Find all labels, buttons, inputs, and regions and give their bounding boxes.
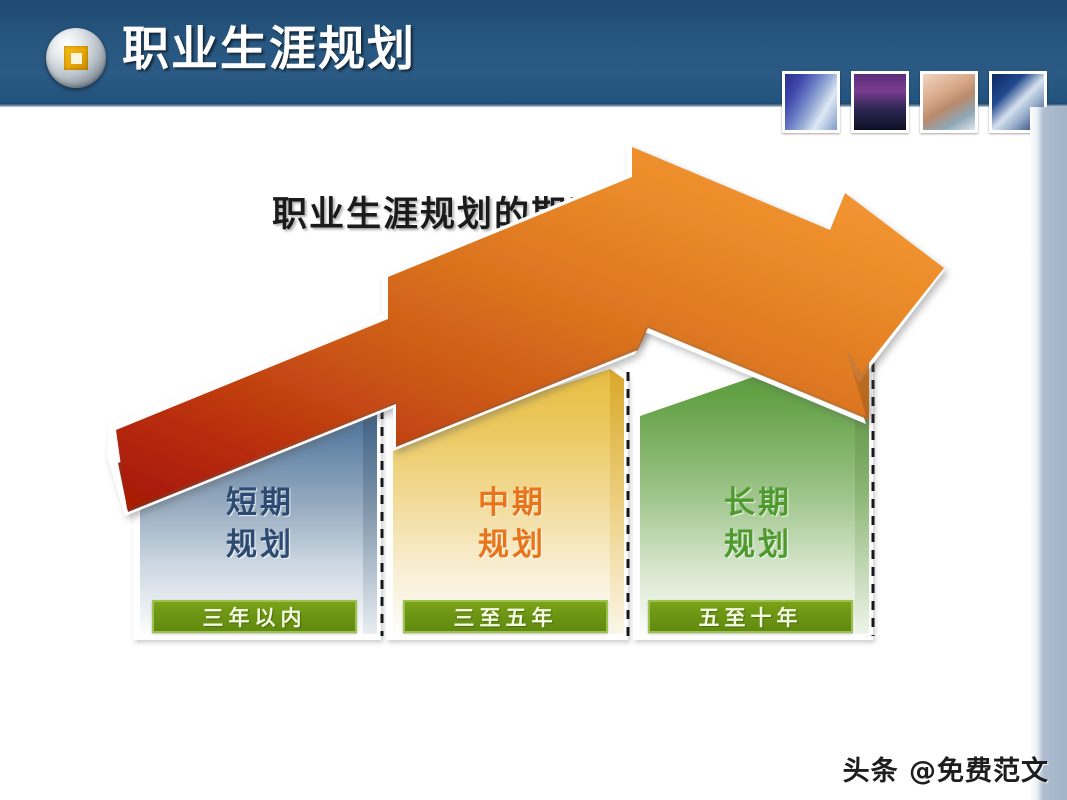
stage-badge-long-term: 五至十年 <box>648 600 853 633</box>
stage-label-long-term: 长期 规划 <box>658 482 858 566</box>
slide-canvas: 职业生涯规划 职业生涯规划的期限 <box>0 0 1067 800</box>
arrow-body <box>107 145 945 516</box>
stage-label-short-term: 短期 规划 <box>160 482 360 566</box>
stage-badge-short-term: 三年以内 <box>152 600 357 633</box>
stage-label-mid-term: 中期 规划 <box>412 482 612 566</box>
stage-badge-mid-term: 三至五年 <box>403 600 608 633</box>
watermark-text: 头条 @免费范文 <box>843 749 1049 788</box>
arrow-overlay-layer <box>0 0 1067 800</box>
